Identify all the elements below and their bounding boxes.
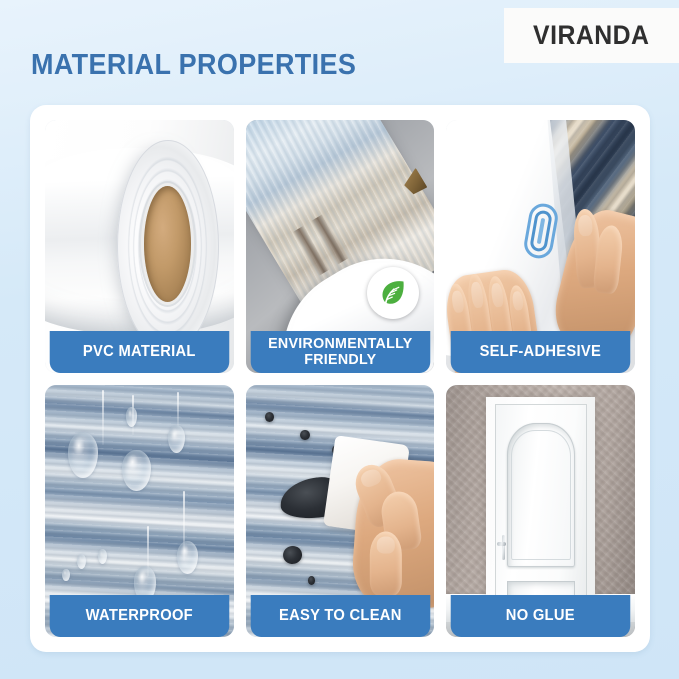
pvc-cardboard-core xyxy=(144,186,191,302)
feature-label-self-adhesive: SELF-ADHESIVE xyxy=(451,331,630,373)
fingernail xyxy=(359,467,384,489)
feature-grid: PVC MATERIAL xyxy=(45,120,635,637)
fingernail xyxy=(491,282,504,307)
water-droplet xyxy=(62,569,70,582)
fingernail xyxy=(578,214,593,235)
page-title: MATERIAL PROPERTIES xyxy=(31,49,356,82)
brand-badge: VIRANDA xyxy=(504,8,679,63)
water-droplet xyxy=(122,450,150,490)
handle-lever xyxy=(497,542,506,546)
water-streak xyxy=(177,392,179,427)
fingernail xyxy=(512,290,524,311)
handle-plate xyxy=(502,535,505,561)
feature-tile-waterproof[interactable]: WATERPROOF xyxy=(45,385,234,638)
feature-label-environmentally-friendly: ENVIRONMENTALLY FRIENDLY xyxy=(250,331,429,373)
feature-tile-easy-to-clean[interactable]: EASY TO CLEAN xyxy=(246,385,435,638)
water-streak xyxy=(102,390,104,446)
fingernail xyxy=(451,290,464,313)
feature-label-no-glue: NO GLUE xyxy=(451,595,630,637)
feature-card: PVC MATERIAL xyxy=(30,105,650,652)
infographic-page: VIRANDA MATERIAL PROPERTIES PVC MATERIAL xyxy=(0,0,679,679)
feature-tile-environmentally-friendly[interactable]: ENVIRONMENTALLY FRIENDLY xyxy=(246,120,435,373)
brand-name: VIRANDA xyxy=(533,20,649,51)
dark-stain xyxy=(300,430,309,440)
feature-tile-no-glue[interactable]: NO GLUE xyxy=(446,385,635,638)
hand-holding-cloth xyxy=(350,457,434,610)
feature-label-waterproof: WATERPROOF xyxy=(50,595,229,637)
water-droplet xyxy=(177,541,198,574)
door-handle xyxy=(497,535,509,561)
fingernail xyxy=(377,537,395,554)
water-droplet xyxy=(168,425,185,453)
feature-label-easy-to-clean: EASY TO CLEAN xyxy=(250,595,429,637)
feature-tile-pvc-material[interactable]: PVC MATERIAL xyxy=(45,120,234,373)
door-panel-upper xyxy=(507,423,575,567)
feature-tile-self-adhesive[interactable]: SELF-ADHESIVE xyxy=(446,120,635,373)
water-droplet xyxy=(68,432,98,477)
fingernail xyxy=(470,281,484,308)
feature-label-pvc-material: PVC MATERIAL xyxy=(50,331,229,373)
